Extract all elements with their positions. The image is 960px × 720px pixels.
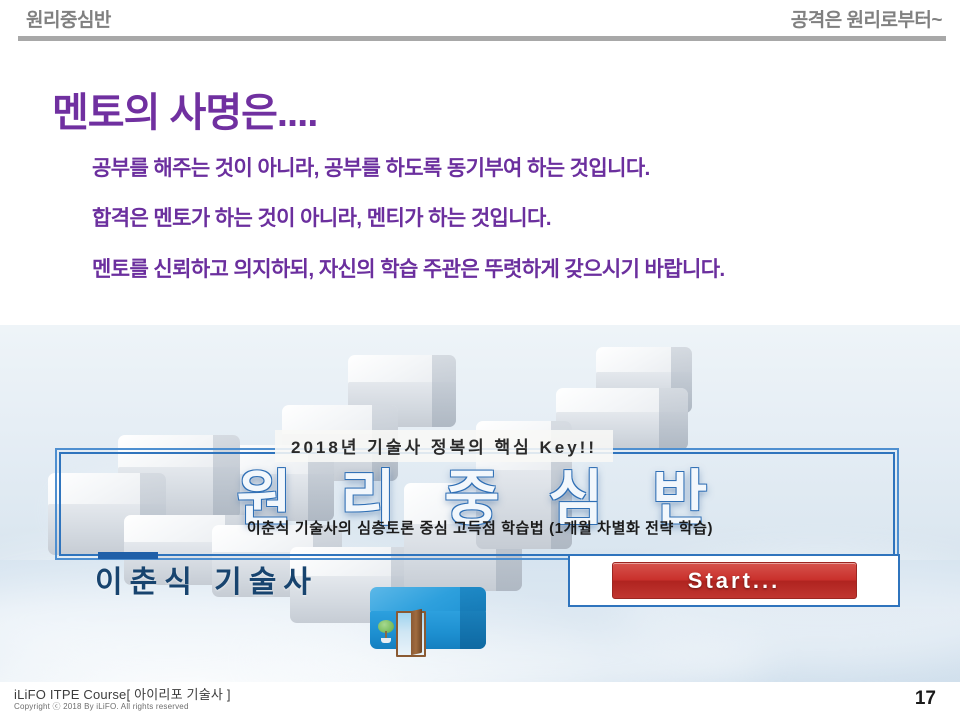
lecturer-name: 이춘식 기술사	[95, 557, 318, 601]
start-panel: Start...	[568, 554, 900, 607]
slide: 원리중심반 공격은 원리로부터~ 멘토의 사명은.... 공부를 해주는 것이 …	[0, 0, 960, 720]
header-right-label: 공격은 원리로부터~	[791, 5, 942, 32]
header-left-label: 원리중심반	[26, 5, 111, 32]
body-line-1: 공부를 해주는 것이 아니라, 공부를 하도록 동기부여 하는 것입니다.	[92, 152, 942, 182]
door-leaf-icon	[411, 609, 422, 656]
header-divider	[18, 36, 946, 41]
promo-image: 2018년 기술사 정복의 핵심 Key!! 원 리 중 심 반 이춘식 기술사…	[0, 325, 960, 682]
slide-header: 원리중심반 공격은 원리로부터~	[0, 0, 960, 42]
body-line-2: 합격은 멘토가 하는 것이 아니라, 멘티가 하는 것입니다.	[92, 202, 942, 232]
page-title: 멘토의 사명은....	[52, 80, 317, 138]
body-line-3: 멘토를 신뢰하고 의지하되, 자신의 학습 주관은 뚜렷하게 갖으시기 바랍니다…	[92, 253, 942, 283]
body-text-block: 공부를 해주는 것이 아니라, 공부를 하도록 동기부여 하는 것입니다. 합격…	[92, 152, 942, 303]
slide-footer: iLiFO ITPE Course[ 아이리포 기술사 ] Copyright …	[0, 682, 960, 720]
footer-copyright: Copyright ⓒ 2018 By iLiFO. All rights re…	[14, 701, 189, 712]
start-button[interactable]: Start...	[612, 562, 857, 599]
page-number: 17	[915, 688, 936, 710]
promo-subtitle: 이춘식 기술사의 심층토론 중심 고득점 학습법 (1개월 차별화 전략 학습)	[0, 517, 960, 538]
